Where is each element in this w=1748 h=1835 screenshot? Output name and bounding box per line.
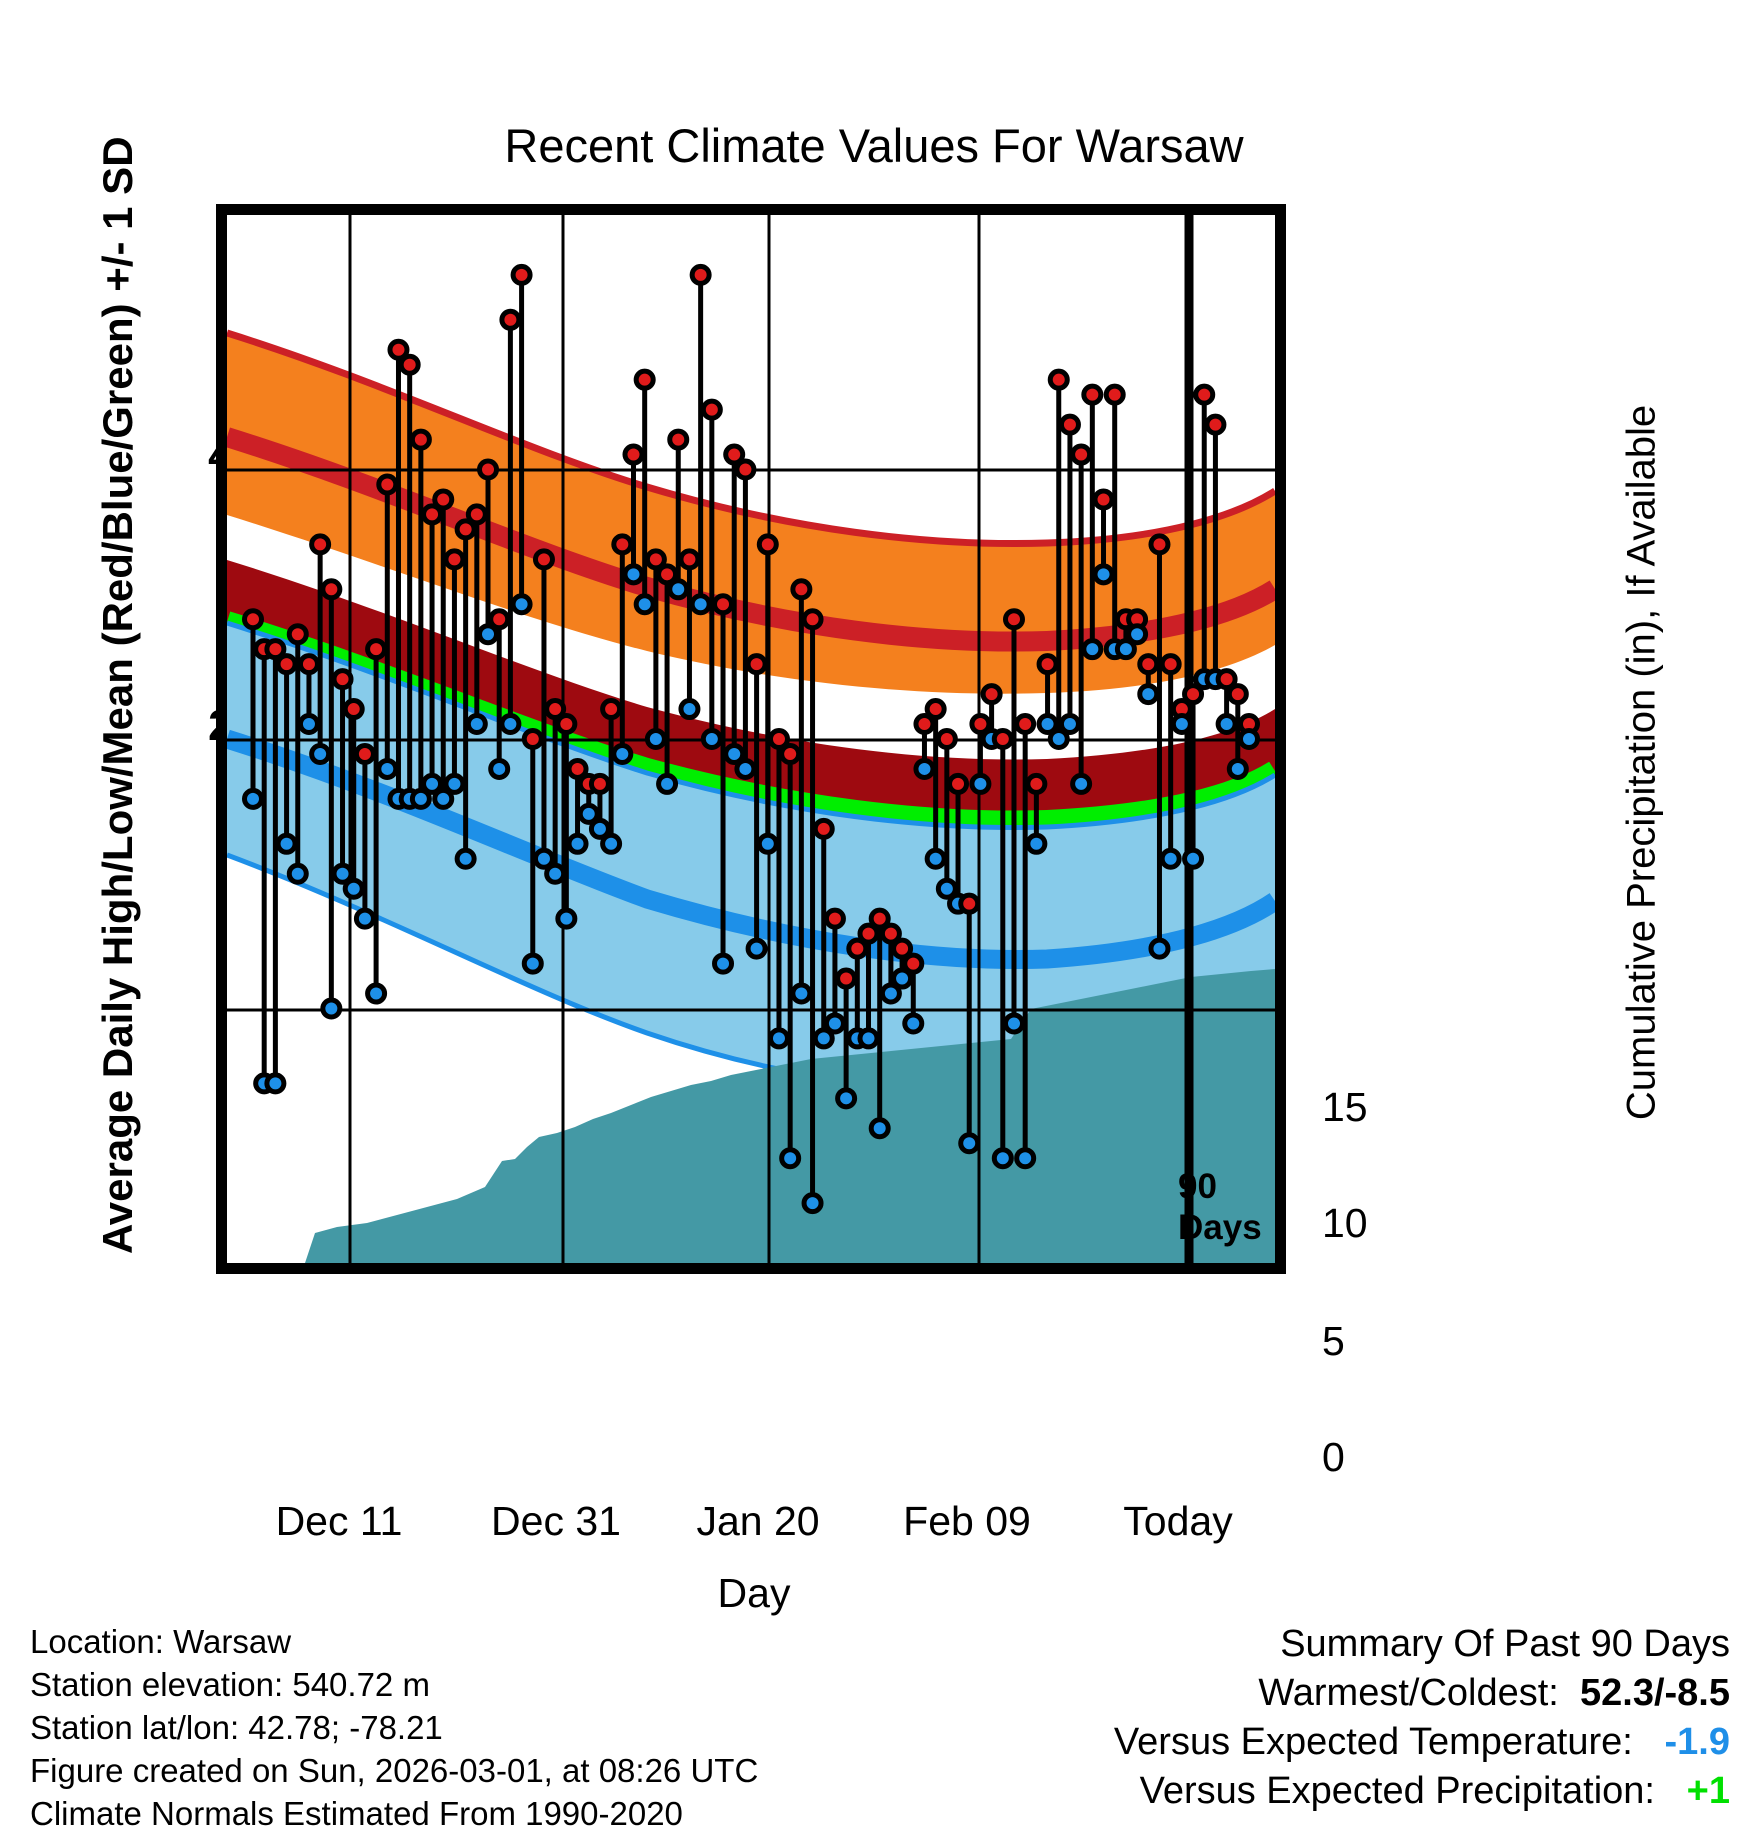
summary-vs-precipitation-label: Versus Expected Precipitation: [1140, 1770, 1655, 1812]
summary-vs-precipitation: Versus Expected Precipitation: +1 [1114, 1767, 1730, 1816]
x-tick-jan-20: Jan 20 [696, 1498, 819, 1545]
chart-canvas [227, 215, 1275, 1263]
summary-vs-precipitation-value: +1 [1687, 1767, 1730, 1816]
y-tick-right-15: 15 [1322, 1084, 1368, 1131]
chart-plot-area [216, 204, 1286, 1274]
station-location: Location: Warsaw [30, 1620, 758, 1663]
chart-svg [227, 215, 1275, 1263]
summary-vs-temperature-value: -1.9 [1665, 1718, 1730, 1767]
y-tick-right-10: 10 [1322, 1200, 1368, 1247]
annotation-90-days-line2: Days [1178, 1207, 1262, 1248]
summary-warmest-coldest-label: Warmest/Coldest: [1258, 1672, 1559, 1714]
annotation-90-days: 90 Days [1178, 1166, 1262, 1248]
summary-warmest-coldest: Warmest/Coldest: 52.3/-8.5 [1114, 1669, 1730, 1718]
summary-block: Summary Of Past 90 Days Warmest/Coldest:… [1114, 1620, 1730, 1816]
x-tick-dec-11: Dec 11 [276, 1498, 403, 1545]
x-tick-today: Today [1123, 1498, 1232, 1545]
station-latlon: Station lat/lon: 42.78; -78.21 [30, 1706, 758, 1749]
x-tick-dec-31: Dec 31 [491, 1498, 621, 1545]
station-elevation: Station elevation: 540.72 m [30, 1663, 758, 1706]
summary-vs-temperature-label: Versus Expected Temperature: [1114, 1721, 1633, 1763]
y-tick-right-5: 5 [1322, 1318, 1345, 1365]
summary-vs-temperature: Versus Expected Temperature: -1.9 [1114, 1718, 1730, 1767]
station-info-block: Location: Warsaw Station elevation: 540.… [30, 1620, 758, 1835]
figure-created: Figure created on Sun, 2026-03-01, at 08… [30, 1749, 758, 1792]
y-axis-right-title: Cumulative Precipitation (in), If Availa… [1620, 233, 1665, 1293]
y-tick-right-0: 0 [1322, 1434, 1345, 1481]
y-axis-left-title: Average Daily High/Low/Mean (Red/Blue/Gr… [94, 194, 142, 1254]
summary-warmest-coldest-value: 52.3/-8.5 [1580, 1669, 1730, 1718]
climate-normals: Climate Normals Estimated From 1990-2020 [30, 1792, 758, 1835]
summary-heading: Summary Of Past 90 Days [1114, 1620, 1730, 1669]
page-title: Recent Climate Values For Warsaw [0, 118, 1748, 173]
x-axis-title: Day [0, 1570, 1748, 1617]
x-tick-feb-09: Feb 09 [903, 1498, 1031, 1545]
x-axis-title-text: Day [718, 1570, 791, 1616]
annotation-90-days-line1: 90 [1178, 1166, 1262, 1207]
